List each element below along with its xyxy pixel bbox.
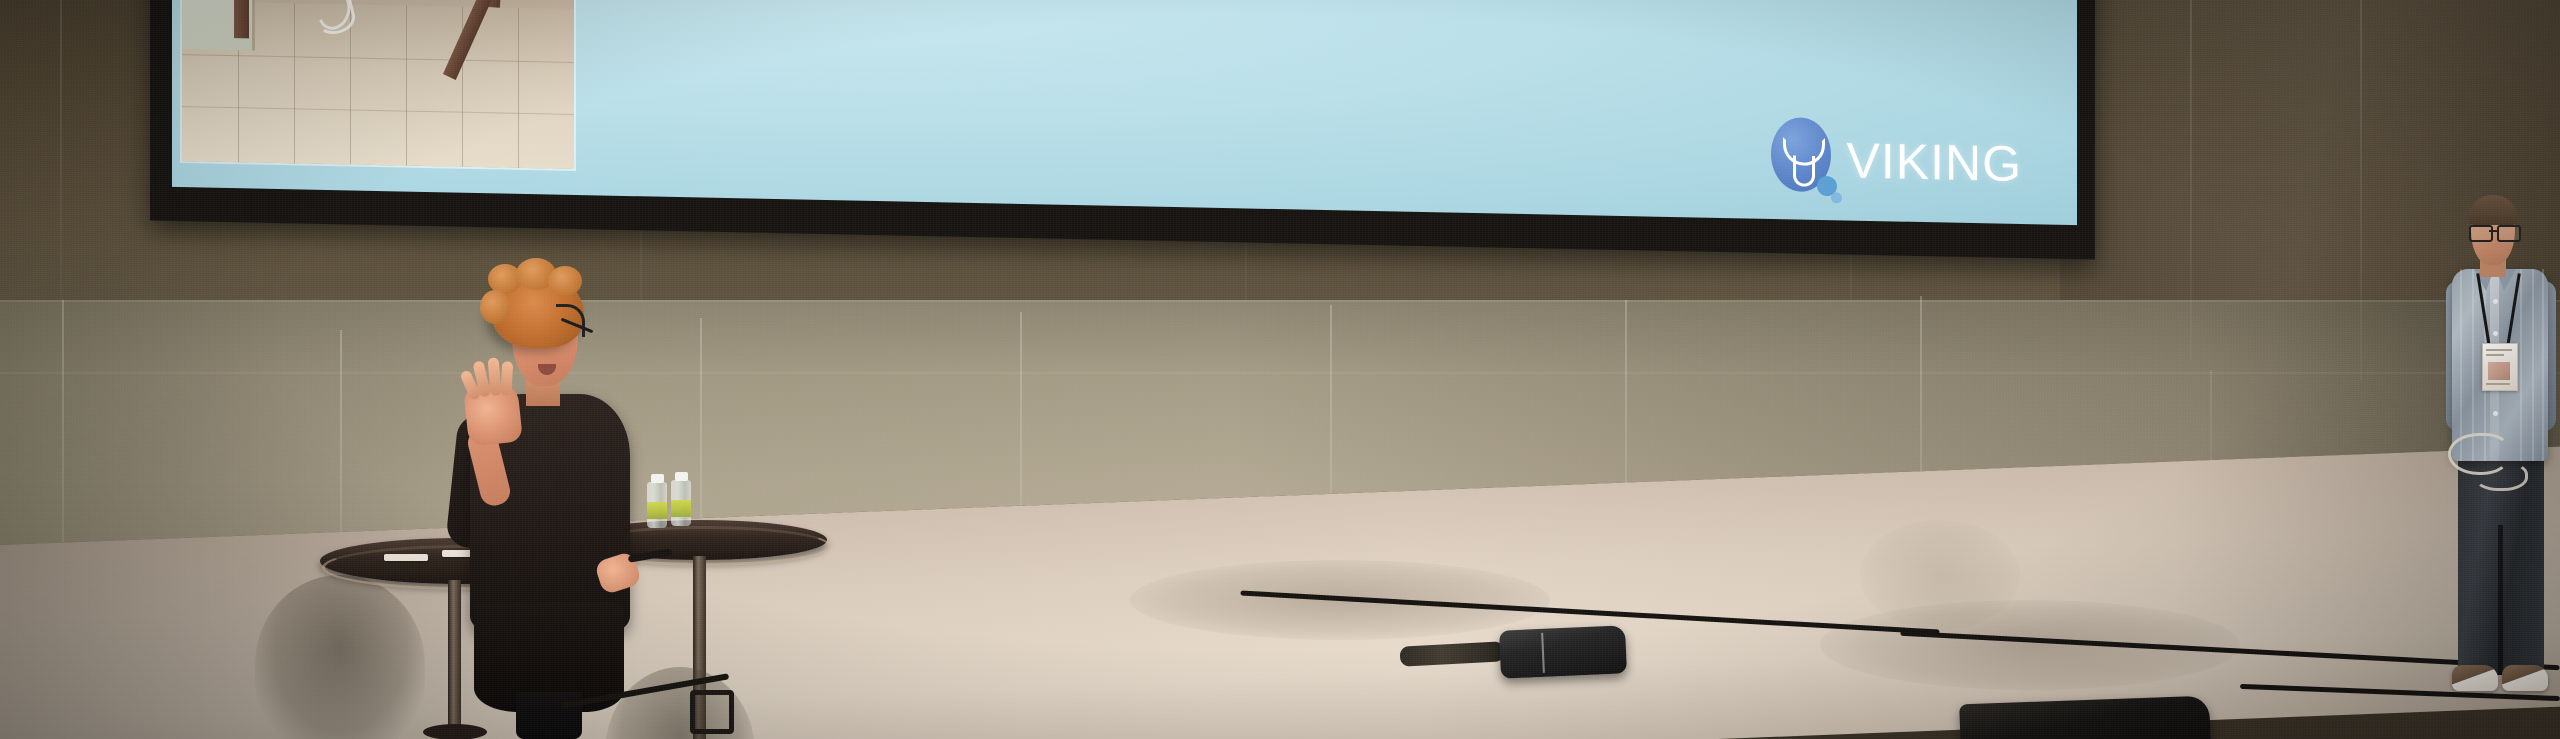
wall-seam (2360, 0, 2362, 380)
slide-photo-leg (234, 0, 249, 38)
woman-raised-hand (463, 381, 523, 446)
equipment-case (1959, 696, 2211, 739)
presentation-slide: Og nu kan vi vise liggetiden VIKING (172, 0, 2077, 225)
wall-shadow-man (1860, 520, 2020, 630)
wall-band (0, 300, 2560, 302)
water-bottle-label (671, 500, 691, 517)
coiled-cable (2474, 461, 2528, 491)
presenter-woman (430, 272, 660, 739)
man-hair (2468, 195, 2518, 225)
stage-monitor-speaker (1499, 625, 1627, 678)
stage-photograph: Og nu kan vi vise liggetiden VIKING (0, 0, 2560, 739)
name-badge (2482, 343, 2518, 391)
wall-band-lower (0, 372, 2560, 374)
wall-seam (60, 0, 62, 300)
table-paper (384, 554, 428, 561)
mic-stand-clamp (690, 690, 734, 734)
man-sneaker-right (2502, 665, 2548, 691)
man-leg-gap (2498, 525, 2503, 675)
viking-wordmark: VIKING (1847, 131, 2022, 193)
slide-photo (182, 0, 574, 169)
viking-oval-mark-icon (1767, 117, 1839, 202)
eyeglasses-icon (2469, 225, 2519, 238)
viking-logo: VIKING (1767, 117, 2022, 206)
projection-screen-surface: Og nu kan vi vise liggetiden VIKING (172, 0, 2077, 225)
wall-seam (2190, 0, 2192, 360)
water-bottle-cap (675, 472, 688, 481)
man-sneaker-left (2452, 665, 2498, 691)
presenter-man (2440, 195, 2560, 739)
woman-legs (516, 692, 582, 739)
